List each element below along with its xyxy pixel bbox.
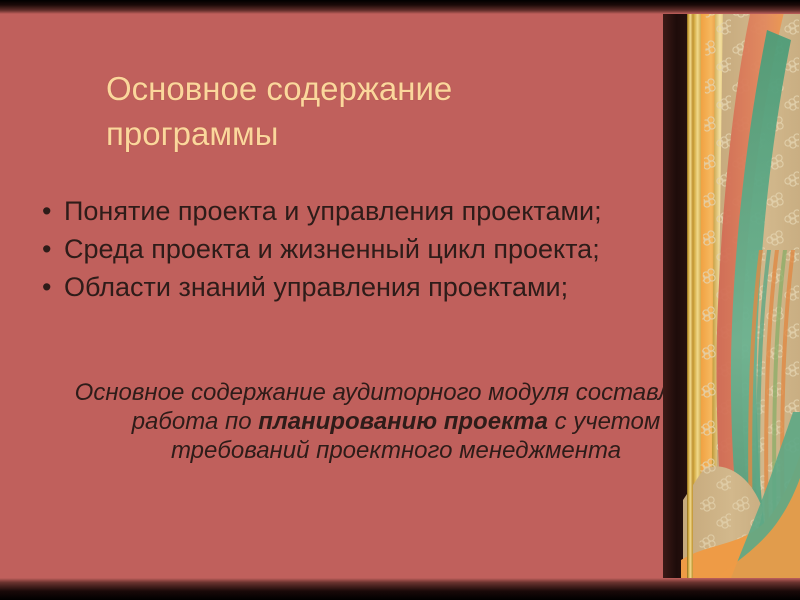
bullet-marker-icon: •: [42, 230, 51, 268]
bullet-text: Среда проекта и жизненный цикл проекта;: [64, 234, 600, 264]
bullet-marker-icon: •: [42, 192, 51, 230]
bottom-shadow-band: [0, 578, 800, 600]
bullet-text: Понятие проекта и управления проектами;: [64, 196, 602, 226]
list-item: • Области знаний управления проектами;: [40, 268, 770, 306]
list-item: • Среда проекта и жизненный цикл проекта…: [40, 230, 770, 268]
bullet-list: • Понятие проекта и управления проектами…: [40, 192, 770, 306]
bullet-marker-icon: •: [42, 268, 51, 306]
presentation-slide: Основное содержание программы • Понятие …: [0, 0, 800, 600]
summary-paragraph: Основное содержание аудиторного модуля с…: [60, 378, 732, 465]
decorative-border-art: [663, 0, 800, 600]
top-shadow-band: [0, 0, 800, 14]
list-item: • Понятие проекта и управления проектами…: [40, 192, 770, 230]
border-art-svg: [663, 0, 800, 600]
summary-text-emphasis: планированию проекта: [258, 408, 548, 435]
slide-title: Основное содержание программы: [106, 66, 626, 156]
bullet-text: Области знаний управления проектами;: [64, 272, 568, 302]
